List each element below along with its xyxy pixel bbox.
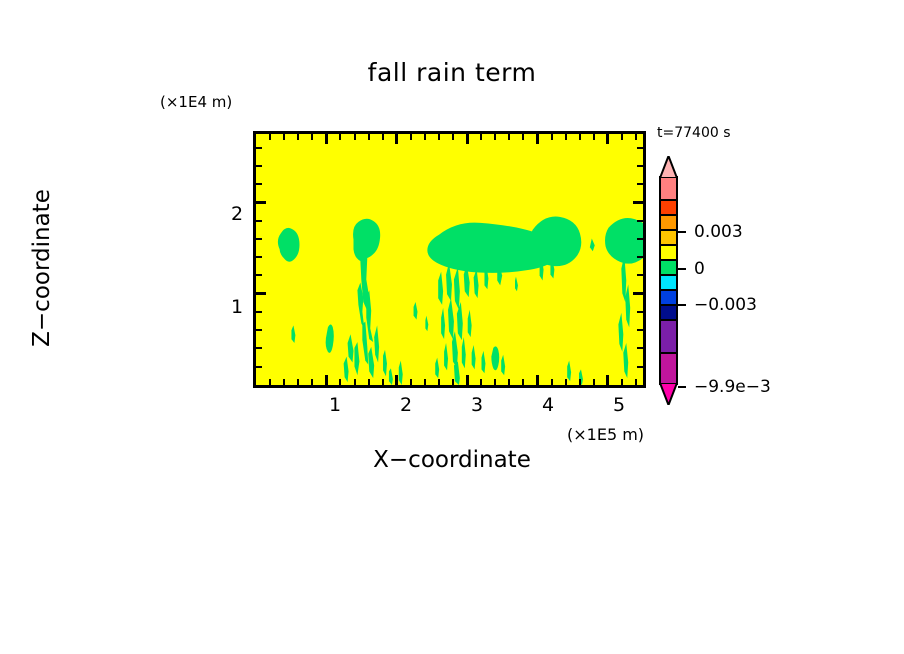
x-minor-tick xyxy=(424,134,426,140)
x-minor-tick xyxy=(283,379,285,385)
colorbar-label-2: −0.003 xyxy=(694,295,757,315)
chart-title: fall rain term xyxy=(0,58,904,87)
x-major-tick xyxy=(466,134,469,144)
x-axis-unit-label: (×1E5 m) xyxy=(567,425,644,444)
colorbar xyxy=(659,176,678,385)
x-minor-tick xyxy=(480,379,482,385)
colorbar-tick-2 xyxy=(678,304,686,306)
colorbar-label-3: −9.9e−3 xyxy=(694,377,771,397)
colorbar-band-9 xyxy=(661,321,676,354)
y-major-tick xyxy=(633,292,643,295)
x-minor-tick xyxy=(354,134,356,140)
y-minor-tick xyxy=(637,274,643,276)
x-minor-tick xyxy=(508,379,510,385)
x-major-tick xyxy=(325,134,328,144)
x-minor-tick xyxy=(269,134,271,140)
x-minor-tick xyxy=(551,379,553,385)
x-minor-tick xyxy=(621,134,623,140)
y-minor-tick xyxy=(256,256,262,258)
y-minor-tick xyxy=(256,183,262,185)
x-minor-tick xyxy=(339,379,341,385)
y-minor-tick xyxy=(637,256,643,258)
colorbar-band-6 xyxy=(661,276,676,291)
colorbar-under-arrow xyxy=(659,383,678,405)
y-minor-tick xyxy=(637,165,643,167)
x-major-tick xyxy=(536,375,539,385)
x-major-tick xyxy=(395,375,398,385)
y-minor-tick xyxy=(637,366,643,368)
colorbar-band-3 xyxy=(661,231,676,246)
x-minor-tick xyxy=(339,134,341,140)
x-minor-tick xyxy=(297,134,299,140)
y-major-tick xyxy=(256,201,266,204)
x-minor-tick xyxy=(593,134,595,140)
y-minor-tick xyxy=(637,238,643,240)
x-minor-tick xyxy=(565,379,567,385)
colorbar-band-1 xyxy=(661,201,676,216)
y-tick-label-1: 1 xyxy=(231,296,243,318)
x-minor-tick xyxy=(283,134,285,140)
y-axis-title: Z−coordinate xyxy=(29,138,55,398)
x-minor-tick xyxy=(621,379,623,385)
x-minor-tick xyxy=(438,379,440,385)
rain-field-contours xyxy=(256,134,643,385)
y-minor-tick xyxy=(637,311,643,313)
x-minor-tick xyxy=(311,134,313,140)
colorbar-tick-1 xyxy=(678,268,686,270)
y-major-tick xyxy=(633,201,643,204)
x-minor-tick xyxy=(522,134,524,140)
y-minor-tick xyxy=(637,183,643,185)
x-minor-tick xyxy=(410,134,412,140)
colorbar-band-4 xyxy=(661,246,676,261)
x-minor-tick xyxy=(438,134,440,140)
y-minor-tick xyxy=(637,147,643,149)
y-minor-tick xyxy=(256,147,262,149)
contour-plot-area xyxy=(253,131,646,388)
x-minor-tick xyxy=(368,379,370,385)
x-minor-tick xyxy=(382,134,384,140)
x-major-tick xyxy=(395,134,398,144)
x-minor-tick xyxy=(635,134,637,140)
colorbar-band-2 xyxy=(661,216,676,231)
x-major-tick xyxy=(606,134,609,144)
x-minor-tick xyxy=(494,134,496,140)
x-tick-label-5: 5 xyxy=(613,394,625,416)
x-minor-tick xyxy=(410,379,412,385)
y-minor-tick xyxy=(256,347,262,349)
x-minor-tick xyxy=(508,134,510,140)
colorbar-band-7 xyxy=(661,291,676,306)
x-tick-label-3: 3 xyxy=(471,394,483,416)
x-minor-tick xyxy=(452,134,454,140)
time-annotation: t=77400 s xyxy=(657,125,731,141)
y-minor-tick xyxy=(256,238,262,240)
colorbar-band-5 xyxy=(661,261,676,276)
y-minor-tick xyxy=(637,220,643,222)
y-major-tick xyxy=(256,292,266,295)
y-minor-tick xyxy=(256,220,262,222)
x-minor-tick xyxy=(494,379,496,385)
colorbar-over-arrow xyxy=(659,156,678,178)
x-minor-tick xyxy=(368,134,370,140)
y-minor-tick xyxy=(637,329,643,331)
y-minor-tick xyxy=(256,274,262,276)
y-minor-tick xyxy=(637,347,643,349)
x-minor-tick xyxy=(480,134,482,140)
x-major-tick xyxy=(325,375,328,385)
y-minor-tick xyxy=(256,311,262,313)
x-minor-tick xyxy=(522,379,524,385)
y-axis-unit-label: (×1E4 m) xyxy=(160,93,232,111)
x-minor-tick xyxy=(297,379,299,385)
y-minor-tick xyxy=(256,165,262,167)
x-tick-label-2: 2 xyxy=(400,394,412,416)
y-minor-tick xyxy=(256,366,262,368)
colorbar-label-1: 0 xyxy=(694,259,705,279)
x-minor-tick xyxy=(551,134,553,140)
x-major-tick xyxy=(466,375,469,385)
y-tick-label-2: 2 xyxy=(231,203,243,225)
x-minor-tick xyxy=(354,379,356,385)
colorbar-band-0 xyxy=(661,178,676,201)
x-minor-tick xyxy=(452,379,454,385)
x-minor-tick xyxy=(269,379,271,385)
x-tick-label-4: 4 xyxy=(542,394,554,416)
x-tick-label-1: 1 xyxy=(329,394,341,416)
x-minor-tick xyxy=(635,379,637,385)
x-major-tick xyxy=(536,134,539,144)
x-major-tick xyxy=(606,375,609,385)
y-minor-tick xyxy=(256,329,262,331)
colorbar-label-0: 0.003 xyxy=(694,222,743,242)
x-axis-title: X−coordinate xyxy=(0,447,904,473)
x-minor-tick xyxy=(382,379,384,385)
x-minor-tick xyxy=(593,379,595,385)
colorbar-tick-3 xyxy=(678,386,686,388)
x-minor-tick xyxy=(565,134,567,140)
colorbar-band-8 xyxy=(661,306,676,321)
x-minor-tick xyxy=(579,134,581,140)
x-minor-tick xyxy=(424,379,426,385)
x-minor-tick xyxy=(579,379,581,385)
colorbar-tick-0 xyxy=(678,231,686,233)
x-minor-tick xyxy=(311,379,313,385)
